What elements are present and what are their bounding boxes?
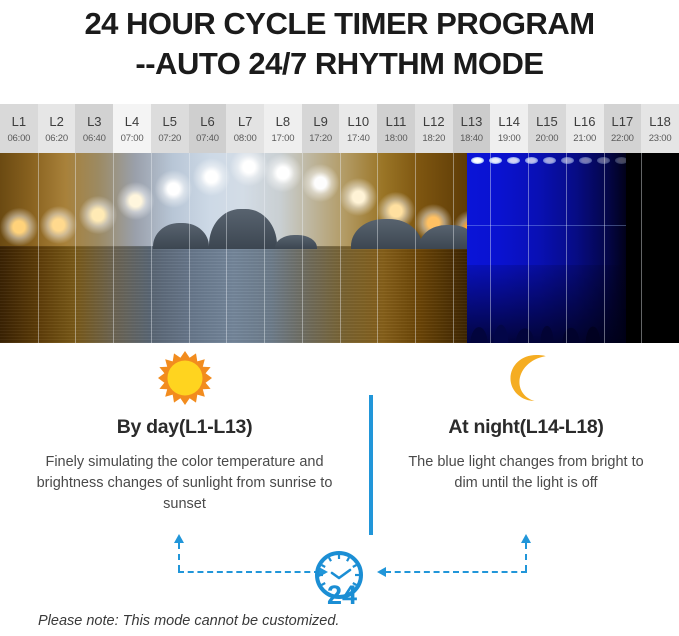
timeline-header: L106:00L206:20L306:40L407:00L507:20L607:… (0, 104, 679, 153)
page-title-line-1: 24 HOUR CYCLE TIMER PROGRAM (0, 4, 679, 44)
column-divider (369, 395, 373, 535)
timeline-level-label: L13 (461, 112, 483, 131)
aquarium-led-1 (471, 157, 484, 164)
night-mode-heading: At night(L14-L18) (373, 416, 679, 439)
timeline-cell-l3: L306:40 (75, 104, 113, 153)
timeline-time-label: 06:40 (83, 131, 106, 147)
aquarium-led-7 (579, 157, 592, 164)
aquarium-led-5 (543, 157, 556, 164)
timeline-level-label: L9 (313, 112, 327, 131)
timeline-time-label: 06:00 (7, 131, 30, 147)
right-dashed-horizontal (385, 571, 527, 573)
right-arrow-head-up (521, 534, 531, 543)
timeline-time-label: 17:00 (272, 131, 295, 147)
timeline-time-label: 17:20 (309, 131, 332, 147)
aquarium-led-3 (507, 157, 520, 164)
night-aquarium-image (467, 153, 626, 343)
mode-explanation-section: By day(L1-L13) Finely simulating the col… (0, 343, 679, 533)
timeline-cell-l6: L607:40 (189, 104, 227, 153)
daytime-seascape-image (0, 153, 467, 343)
day-water (0, 246, 467, 343)
timeline-time-label: 18:00 (385, 131, 408, 147)
clock-24-label: 24 (327, 580, 357, 608)
timeline-level-label: L7 (238, 112, 252, 131)
timeline-level-label: L15 (536, 112, 558, 131)
timeline-time-label: 21:00 (573, 131, 596, 147)
timeline-level-label: L6 (200, 112, 214, 131)
timeline-level-label: L18 (649, 112, 671, 131)
timeline-time-label: 08:00 (234, 131, 257, 147)
clock-24-icon: 24 (300, 548, 378, 613)
timeline-level-label: L3 (87, 112, 101, 131)
timeline-level-label: L1 (12, 112, 26, 131)
day-sky (0, 153, 467, 249)
timeline-level-label: L8 (276, 112, 290, 131)
timeline-cell-l9: L917:20 (302, 104, 340, 153)
timeline-time-label: 17:40 (347, 131, 370, 147)
lights-off-black-panel (626, 153, 679, 343)
night-horizon-line (467, 225, 626, 226)
left-dashed-horizontal (178, 571, 320, 573)
cycle-flow-diagram: 24 (0, 528, 679, 608)
timeline-time-label: 20:00 (536, 131, 559, 147)
aquarium-led-2 (489, 157, 502, 164)
night-mode-column: At night(L14-L18) The blue light changes… (373, 343, 679, 494)
timeline-cell-l4: L407:00 (113, 104, 151, 153)
day-mode-column: By day(L1-L13) Finely simulating the col… (0, 343, 369, 515)
timeline-level-label: L2 (49, 112, 63, 131)
left-dashed-vertical (178, 543, 180, 571)
timeline-level-label: L17 (612, 112, 634, 131)
timeline-level-label: L12 (423, 112, 445, 131)
timeline-cell-l17: L1722:00 (604, 104, 642, 153)
day-mode-heading: By day(L1-L13) (0, 416, 369, 439)
timeline-level-label: L5 (163, 112, 177, 131)
timeline-level-label: L10 (347, 112, 369, 131)
timeline-cell-l7: L708:00 (226, 104, 264, 153)
sun-icon (0, 343, 369, 405)
timeline-cell-l10: L1017:40 (339, 104, 377, 153)
day-mode-description: Finely simulating the color temperature … (0, 452, 369, 515)
timeline-level-label: L4 (125, 112, 139, 131)
timeline-cell-l5: L507:20 (151, 104, 189, 153)
right-arrow-head-left (377, 567, 386, 577)
timeline-level-label: L11 (386, 112, 407, 131)
aquarium-led-4 (525, 157, 538, 164)
timeline-time-label: 07:00 (121, 131, 144, 147)
timeline-cell-l16: L1621:00 (566, 104, 604, 153)
page-title: 24 HOUR CYCLE TIMER PROGRAM --AUTO 24/7 … (0, 0, 679, 84)
timeline-level-label: L16 (574, 112, 596, 131)
aquarium-led-8 (597, 157, 610, 164)
timeline-cell-l12: L1218:20 (415, 104, 453, 153)
timeline-cell-l18: L1823:00 (641, 104, 679, 153)
timeline-cell-l8: L817:00 (264, 104, 302, 153)
timeline-time-label: 22:00 (611, 131, 634, 147)
timeline-cell-l14: L1419:00 (490, 104, 528, 153)
aquarium-led-6 (561, 157, 574, 164)
timeline-level-label: L14 (498, 112, 520, 131)
moon-icon (373, 343, 679, 405)
right-dashed-vertical (525, 543, 527, 571)
timeline-time-label: 23:00 (649, 131, 672, 147)
timeline-time-label: 07:20 (158, 131, 181, 147)
timeline-time-label: 18:40 (460, 131, 483, 147)
footer-note: Please note: This mode cannot be customi… (38, 613, 339, 629)
page-title-line-2: --AUTO 24/7 RHYTHM MODE (0, 44, 679, 84)
timeline-time-label: 06:20 (45, 131, 68, 147)
left-arrow-head-up (174, 534, 184, 543)
timeline-time-label: 07:40 (196, 131, 219, 147)
timeline-cell-l11: L1118:00 (377, 104, 415, 153)
night-mode-description: The blue light changes from bright to di… (373, 452, 679, 494)
aquarium-led-9 (615, 157, 626, 164)
timeline-cell-l13: L1318:40 (453, 104, 491, 153)
timeline-time-label: 19:00 (498, 131, 521, 147)
timeline-cell-l1: L106:00 (0, 104, 38, 153)
timeline-cell-l15: L1520:00 (528, 104, 566, 153)
timeline-cell-l2: L206:20 (38, 104, 76, 153)
light-cycle-image-strip (0, 153, 679, 343)
night-foreground (467, 265, 626, 343)
timeline-time-label: 18:20 (422, 131, 445, 147)
